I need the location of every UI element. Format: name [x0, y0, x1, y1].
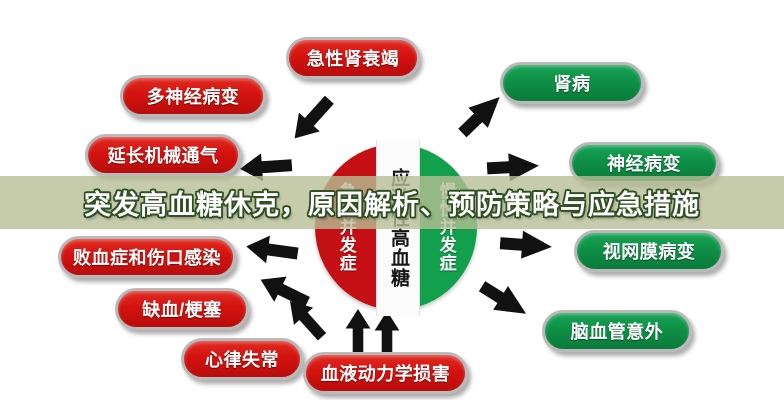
arrow-to-nephropathy [452, 86, 510, 144]
overlay-title-text: 突发高血糖休克，原因解析、预防策略与应急措施 [84, 183, 700, 222]
node-retinopathy[interactable]: 视网膜病变 [574, 230, 724, 272]
arrow-to-cerebrovascular-accident [474, 274, 534, 327]
arrow-to-hemodynamic-damage-2 [373, 311, 401, 357]
diagram-canvas: 急性并发症 慢性并发症 应激性高血糖 急性肾衰竭 多神经病变 延长机械通气 败血… [0, 0, 784, 400]
node-label: 多神经病变 [147, 83, 240, 109]
node-label: 血液动力学损害 [321, 360, 451, 386]
arrow-to-hemodynamic-damage [344, 309, 372, 355]
node-label: 缺血/梗塞 [142, 296, 222, 322]
node-label: 延长机械通气 [108, 142, 219, 168]
node-label: 神经病变 [607, 150, 681, 176]
node-label: 急性肾衰竭 [307, 45, 400, 71]
node-arrhythmia[interactable]: 心律失常 [181, 338, 303, 380]
node-polyneuropathy[interactable]: 多神经病变 [120, 75, 266, 117]
node-label: 心律失常 [205, 346, 279, 372]
node-sepsis-and-wound-infection[interactable]: 败血症和伤口感染 [58, 236, 236, 278]
node-label: 视网膜病变 [603, 238, 696, 264]
overlay-title-band: 突发高血糖休克，原因解析、预防策略与应急措施 [0, 176, 784, 229]
arrow-to-retinopathy [499, 228, 553, 262]
node-label: 脑血管意外 [571, 318, 664, 344]
node-prolonged-mechanical-ventilation[interactable]: 延长机械通气 [85, 134, 241, 176]
node-acute-renal-failure[interactable]: 急性肾衰竭 [286, 37, 420, 79]
node-ischemia-infarction[interactable]: 缺血/梗塞 [115, 288, 249, 330]
node-label: 败血症和伤口感染 [73, 244, 221, 270]
arrow-to-acute-renal-failure [283, 90, 340, 149]
node-nephropathy[interactable]: 肾病 [500, 62, 644, 104]
node-cerebrovascular-accident[interactable]: 脑血管意外 [542, 310, 692, 352]
arrow-to-prolonged-ventilation [244, 232, 300, 269]
node-hemodynamic-damage[interactable]: 血液动力学损害 [303, 352, 468, 394]
node-label: 肾病 [554, 70, 591, 96]
